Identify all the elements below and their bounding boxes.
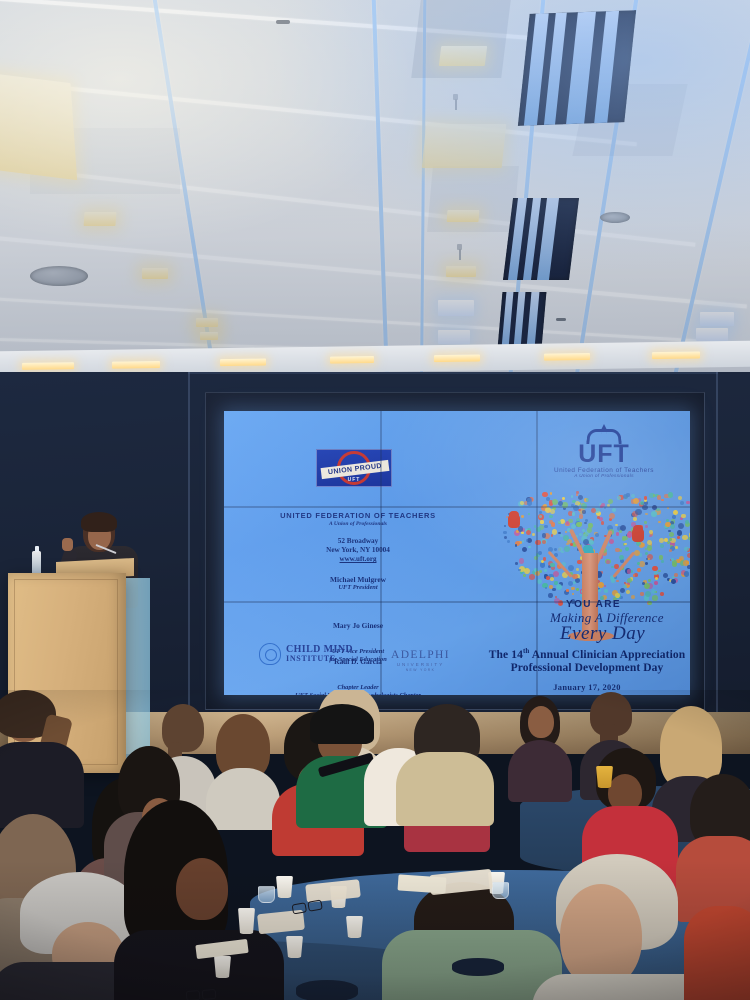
person-name: Michael Mulgrew: [224, 575, 492, 584]
canopy-handprint-dot: [669, 549, 672, 552]
cove-light: [434, 355, 480, 363]
canopy-handprint-dot: [627, 578, 632, 583]
canopy-handprint-dot: [637, 568, 641, 572]
canopy-handprint-dot: [564, 546, 570, 552]
cove-light: [220, 359, 266, 367]
canopy-handprint-dot: [576, 568, 579, 571]
organization-tagline: A Union of Professionals: [224, 521, 492, 527]
canopy-handprint-dot: [686, 501, 689, 504]
canopy-handprint-dot: [644, 496, 648, 500]
canopy-handprint-dot: [538, 551, 542, 555]
canopy-handprint-dot: [579, 514, 584, 519]
head-profile-icon: [259, 643, 281, 665]
ceiling-shading: [0, 0, 750, 372]
canopy-handprint-dot: [623, 494, 628, 499]
canopy-handprint-dot: [616, 580, 619, 583]
canopy-handprint-dot: [549, 520, 553, 524]
canopy-handprint-dot: [552, 499, 558, 505]
canopy-handprint-dot: [566, 543, 569, 546]
paper-cup: [214, 956, 231, 978]
presentation-slide: UNION PROUD UFT UNITED FEDERATION OF TEA…: [224, 411, 690, 695]
canopy-handprint-dot: [528, 513, 530, 515]
canopy-handprint-dot: [637, 562, 640, 565]
canopy-handprint-dot: [658, 570, 660, 572]
canopy-handprint-dot: [666, 519, 669, 522]
canopy-handprint-dot: [641, 543, 645, 547]
canopy-handprint-dot: [553, 571, 559, 577]
canopy-handprint-dot: [576, 588, 579, 591]
canopy-handprint-dot: [568, 581, 573, 586]
canopy-handprint-dot: [681, 514, 686, 519]
canopy-handprint-dot: [689, 532, 690, 537]
person-entry: Michael Mulgrew UFT President: [224, 575, 492, 592]
canopy-handprint-dot: [652, 595, 657, 600]
video-wall[interactable]: UNION PROUD UFT UNITED FEDERATION OF TEA…: [205, 392, 705, 710]
canopy-handprint-dot: [647, 545, 652, 550]
canopy-handprint-dot: [669, 538, 672, 541]
canopy-handprint-dot: [526, 530, 531, 535]
uft-wordmark: UFT: [524, 442, 684, 466]
canopy-handprint-dot: [586, 498, 590, 502]
event-title-block: The 14th Annual Clinician Appreciation P…: [482, 645, 690, 692]
canopy-handprint-dot: [675, 546, 678, 549]
plate: [452, 958, 504, 976]
canopy-handprint-dot: [522, 540, 525, 543]
presenter-hand: [62, 538, 73, 551]
canopy-handprint-dot: [617, 496, 621, 500]
canopy-handprint-dot: [678, 496, 682, 500]
canopy-handprint-dot: [651, 511, 657, 517]
canopy-handprint-dot: [544, 569, 547, 572]
canopy-handprint-dot: [572, 574, 577, 579]
canopy-handprint-dot: [544, 525, 548, 529]
canopy-handprint-dot: [687, 553, 690, 558]
canopy-handprint-dot: [503, 531, 507, 535]
canopy-handprint-dot: [670, 524, 675, 529]
canopy-handprint-dot: [518, 526, 524, 532]
video-wall-screen[interactable]: UNION PROUD UFT UNITED FEDERATION OF TEA…: [224, 411, 690, 695]
canopy-handprint-dot: [678, 523, 684, 529]
canopy-handprint-dot: [556, 584, 562, 590]
canopy-handprint-dot: [654, 581, 658, 585]
person-title: UFT President: [224, 584, 492, 592]
canopy-handprint-dot: [635, 509, 641, 515]
canopy-handprint-dot: [583, 539, 589, 545]
eyeglasses: [186, 989, 216, 999]
tagline-line3: Every Day: [560, 623, 645, 645]
canopy-handprint-dot: [523, 574, 526, 577]
canopy-handprint-dot: [563, 535, 569, 541]
union-proud-text: UNION PROUD: [328, 463, 383, 477]
canopy-handprint-dot: [686, 561, 689, 564]
address-city: New York, NY 10004: [224, 546, 492, 555]
canopy-handprint-dot: [521, 515, 524, 518]
uft-logo: UFT United Federation of Teachers A Unio…: [524, 427, 684, 479]
canopy-handprint-dot: [619, 530, 622, 533]
canopy-handprint-dot: [558, 532, 560, 534]
cove-light: [112, 361, 160, 369]
canopy-handprint-dot: [528, 546, 531, 549]
wall-seam: [188, 372, 190, 732]
presenter-hair: [81, 512, 117, 532]
canopy-handprint-dot: [571, 495, 574, 498]
drinking-glass: [492, 882, 509, 899]
event-title-line2: Professional Development Day: [482, 662, 690, 676]
canopy-handprint-dot: [551, 534, 553, 536]
canopy-handprint-dot: [515, 562, 518, 565]
canopy-handprint-dot: [658, 521, 660, 523]
paper-cup: [346, 916, 363, 938]
canopy-handprint-dot: [672, 515, 676, 519]
canopy-handprint-dot: [655, 577, 658, 580]
wall-seam: [188, 372, 718, 374]
cove-light: [22, 362, 74, 370]
paper-cup: [238, 908, 255, 934]
canopy-handprint-dot: [540, 520, 543, 523]
canopy-handprint-dot: [661, 560, 664, 563]
canopy-handprint-dot: [527, 498, 531, 502]
canopy-handprint-icon: [632, 529, 644, 542]
canopy-handprint-dot: [626, 590, 630, 594]
canopy-handprint-dot: [566, 589, 569, 592]
canopy-handprint-dot: [520, 501, 524, 505]
canopy-handprint-dot: [515, 544, 518, 547]
panel-seam: [224, 506, 690, 508]
canopy-handprint-dot: [661, 499, 664, 502]
canopy-handprint-dot: [619, 549, 622, 552]
canopy-handprint-dot: [576, 522, 581, 527]
canopy-handprint-dot: [615, 548, 620, 553]
canopy-handprint-dot: [598, 582, 604, 588]
organization-address: 52 Broadway New York, NY 10004 www.uft.o…: [224, 537, 492, 565]
event-title-pre: The 14: [489, 649, 523, 661]
canopy-handprint-dot: [625, 547, 629, 551]
ceiling: [0, 0, 750, 372]
adelphi-name: ADELPHI: [391, 649, 450, 661]
panel-seam: [380, 411, 382, 695]
canopy-handprint-dot: [577, 560, 581, 564]
canopy-handprint-dot: [656, 508, 660, 512]
address-street: 52 Broadway: [224, 537, 492, 546]
event-title-post: Annual Clinician Appreciation: [529, 649, 685, 661]
plate: [296, 980, 358, 1000]
canopy-handprint-dot: [667, 541, 670, 544]
canopy-handprint-dot: [568, 565, 574, 571]
canopy-handprint-dot: [576, 491, 579, 494]
person-name: Mary Jo Ginese: [224, 621, 492, 630]
canopy-handprint-dot: [639, 561, 644, 566]
canopy-handprint-dot: [539, 515, 542, 518]
canopy-handprint-dot: [606, 560, 610, 564]
canopy-handprint-dot: [608, 544, 610, 546]
event-title-line1: The 14th Annual Clinician Appreciation: [482, 645, 690, 662]
canopy-handprint-dot: [671, 579, 676, 584]
cmi-name-line2: INSTITUTE: [286, 654, 353, 664]
canopy-handprint-dot: [558, 521, 560, 523]
canopy-handprint-dot: [611, 579, 615, 583]
canopy-handprint-dot: [645, 513, 648, 516]
canopy-handprint-dot: [518, 569, 520, 571]
canopy-handprint-dot: [677, 530, 682, 535]
canopy-handprint-dot: [611, 566, 613, 568]
canopy-handprint-dot: [623, 585, 627, 589]
canopy-handprint-dot: [659, 555, 663, 559]
canopy-handprint-dot: [615, 593, 619, 597]
adelphi-sub: UNIVERSITY: [391, 662, 450, 667]
canopy-handprint-dot: [587, 527, 592, 532]
canopy-handprint-dot: [687, 565, 690, 569]
canopy-handprint-dot: [539, 570, 542, 573]
canopy-handprint-dot: [552, 588, 555, 591]
paper-cup: [286, 936, 303, 958]
canopy-handprint-dot: [640, 592, 643, 595]
canopy-handprint-dot: [668, 492, 673, 497]
canopy-handprint-dot: [578, 495, 583, 500]
canopy-handprint-dot: [604, 585, 606, 587]
handout-paper: [398, 874, 447, 893]
canopy-handprint-icon: [508, 515, 520, 528]
canopy-handprint-dot: [633, 517, 637, 521]
canopy-handprint-dot: [669, 532, 675, 538]
uft-logo-line2: A Union of Professionals: [524, 474, 684, 479]
water-bottle: [32, 551, 41, 575]
canopy-handprint-dot: [660, 592, 664, 596]
canopy-handprint-dot: [660, 544, 664, 548]
canopy-handprint-dot: [627, 569, 632, 574]
canopy-handprint-dot: [542, 533, 547, 538]
canopy-handprint-dot: [682, 535, 688, 541]
canopy-handprint-dot: [624, 543, 627, 546]
canopy-handprint-dot: [550, 509, 555, 514]
canopy-handprint-dot: [615, 524, 618, 527]
canopy-handprint-dot: [554, 548, 557, 551]
canopy-handprint-dot: [609, 539, 614, 544]
drinking-glass: [258, 886, 275, 903]
canopy-handprint-dot: [680, 501, 684, 505]
coffee-cup: [596, 766, 613, 788]
canopy-handprint-dot: [582, 510, 585, 513]
panel-seam: [536, 411, 538, 695]
canopy-handprint-dot: [595, 533, 599, 537]
canopy-handprint-dot: [545, 587, 547, 589]
canopy-handprint-dot: [598, 589, 602, 593]
canopy-handprint-dot: [543, 557, 547, 561]
canopy-handprint-dot: [507, 540, 510, 543]
canopy-handprint-dot: [622, 536, 626, 540]
cmi-name-line1: CHILD MIND: [286, 645, 353, 655]
canopy-handprint-dot: [591, 508, 596, 513]
canopy-handprint-dot: [504, 536, 507, 539]
canopy-handprint-dot: [645, 525, 648, 528]
child-mind-institute-logo: CHILD MIND INSTITUTE: [259, 643, 353, 665]
paper-cup: [276, 876, 293, 898]
conference-room-photo: UNION PROUD UFT UNITED FEDERATION OF TEA…: [0, 0, 750, 1000]
canopy-handprint-dot: [572, 512, 575, 515]
canopy-handprint-dot: [550, 492, 553, 495]
canopy-handprint-dot: [631, 595, 635, 599]
adelphi-university-logo: ADELPHI UNIVERSITY NEW YORK: [391, 649, 450, 672]
canopy-handprint-dot: [651, 589, 656, 594]
canopy-handprint-dot: [549, 515, 552, 518]
canopy-handprint-dot: [684, 571, 690, 577]
cove-light: [652, 351, 700, 359]
canopy-handprint-dot: [652, 566, 657, 571]
canopy-handprint-dot: [659, 538, 664, 543]
canopy-handprint-dot: [504, 525, 507, 528]
canopy-handprint-dot: [558, 547, 563, 552]
canopy-handprint-dot: [608, 499, 613, 504]
organization-name: UNITED FEDERATION OF TEACHERS: [224, 511, 492, 520]
canopy-handprint-dot: [648, 579, 651, 582]
canopy-handprint-dot: [548, 593, 553, 598]
canopy-handprint-dot: [522, 547, 527, 552]
canopy-handprint-dot: [649, 535, 652, 538]
canopy-handprint-dot: [571, 587, 574, 590]
canopy-handprint-dot: [644, 521, 646, 523]
adelphi-location: NEW YORK: [391, 668, 450, 672]
open-book-icon: [587, 427, 621, 442]
uft-logo-line1: United Federation of Teachers: [524, 467, 684, 474]
wall-seam: [716, 372, 718, 732]
canopy-handprint-dot: [584, 522, 586, 524]
canopy-handprint-dot: [546, 497, 550, 501]
canopy-handprint-dot: [677, 536, 680, 539]
cove-light: [330, 356, 374, 364]
cove-light: [544, 353, 590, 361]
canopy-handprint-dot: [519, 558, 525, 564]
canopy-handprint-dot: [526, 539, 528, 541]
panel-seam: [224, 601, 690, 603]
canopy-handprint-dot: [550, 577, 554, 581]
canopy-handprint-dot: [539, 511, 541, 513]
canopy-handprint-dot: [532, 533, 536, 537]
canopy-handprint-dot: [529, 574, 535, 580]
canopy-handprint-dot: [604, 589, 608, 593]
canopy-handprint-dot: [562, 497, 566, 501]
canopy-handprint-dot: [572, 593, 574, 595]
canopy-handprint-dot: [609, 513, 615, 519]
canopy-handprint-dot: [601, 521, 604, 524]
canopy-handprint-dot: [674, 573, 678, 577]
canopy-handprint-dot: [645, 562, 648, 565]
canopy-handprint-dot: [620, 588, 625, 593]
audience-area: [0, 690, 750, 1000]
organization-url[interactable]: www.uft.org: [224, 555, 492, 564]
canopy-handprint-dot: [612, 508, 616, 512]
